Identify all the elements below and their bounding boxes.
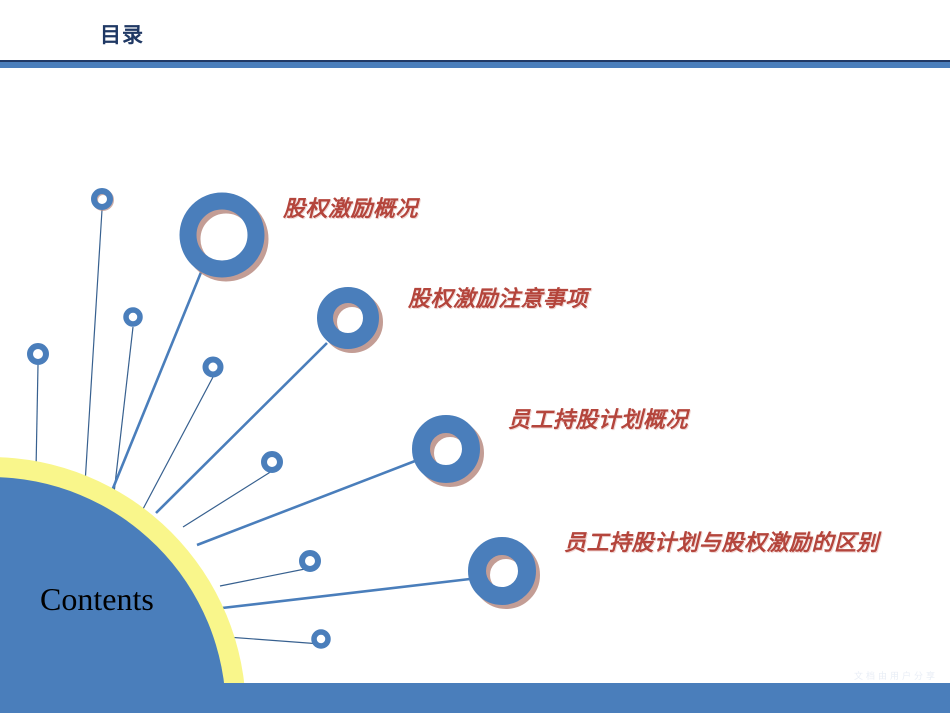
marker-dot-7[interactable] <box>314 632 328 646</box>
spoke-line-thick-4 <box>222 579 470 608</box>
marker-dot-3[interactable] <box>30 346 46 362</box>
contents-item-label-2[interactable]: 股权激励注意事项 <box>408 288 588 310</box>
item-rings <box>188 201 531 600</box>
item-ring-3[interactable] <box>421 424 475 478</box>
contents-item-label-3[interactable]: 员工持股计划概况 <box>508 409 688 431</box>
item-ring-1[interactable] <box>188 201 260 273</box>
spoke-line-thin-4 <box>143 377 213 509</box>
spoke-line-thin-1 <box>84 210 102 500</box>
spoke-line-thin-2 <box>113 327 133 502</box>
presentation-slide: 目录 <box>0 0 950 713</box>
spoke-line-thick-2 <box>156 343 327 513</box>
item-ring-2[interactable] <box>325 295 375 345</box>
footer-watermark: 文档由用户分享 <box>854 669 938 682</box>
marker-dot-4[interactable] <box>206 360 221 375</box>
contents-label: Contents <box>40 583 154 615</box>
spoke-line-thin-7 <box>227 637 321 644</box>
contents-item-label-4[interactable]: 员工持股计划与股权激励的区别 <box>564 532 879 554</box>
marker-dot-5[interactable] <box>264 454 280 470</box>
contents-item-label-1[interactable]: 股权激励概况 <box>283 198 418 220</box>
marker-dot-1[interactable] <box>94 191 111 208</box>
spoke-line-thin-5 <box>183 471 272 527</box>
spoke-line-thick-1 <box>109 265 204 498</box>
spoke-line-thick-3 <box>197 461 415 545</box>
spoke-line-thin-3 <box>36 365 38 470</box>
spoke-line-thin-6 <box>220 568 310 586</box>
footer-bar <box>0 683 950 713</box>
marker-dot-6[interactable] <box>302 553 318 569</box>
marker-dot-2[interactable] <box>126 310 140 324</box>
item-ring-4[interactable] <box>477 546 531 600</box>
